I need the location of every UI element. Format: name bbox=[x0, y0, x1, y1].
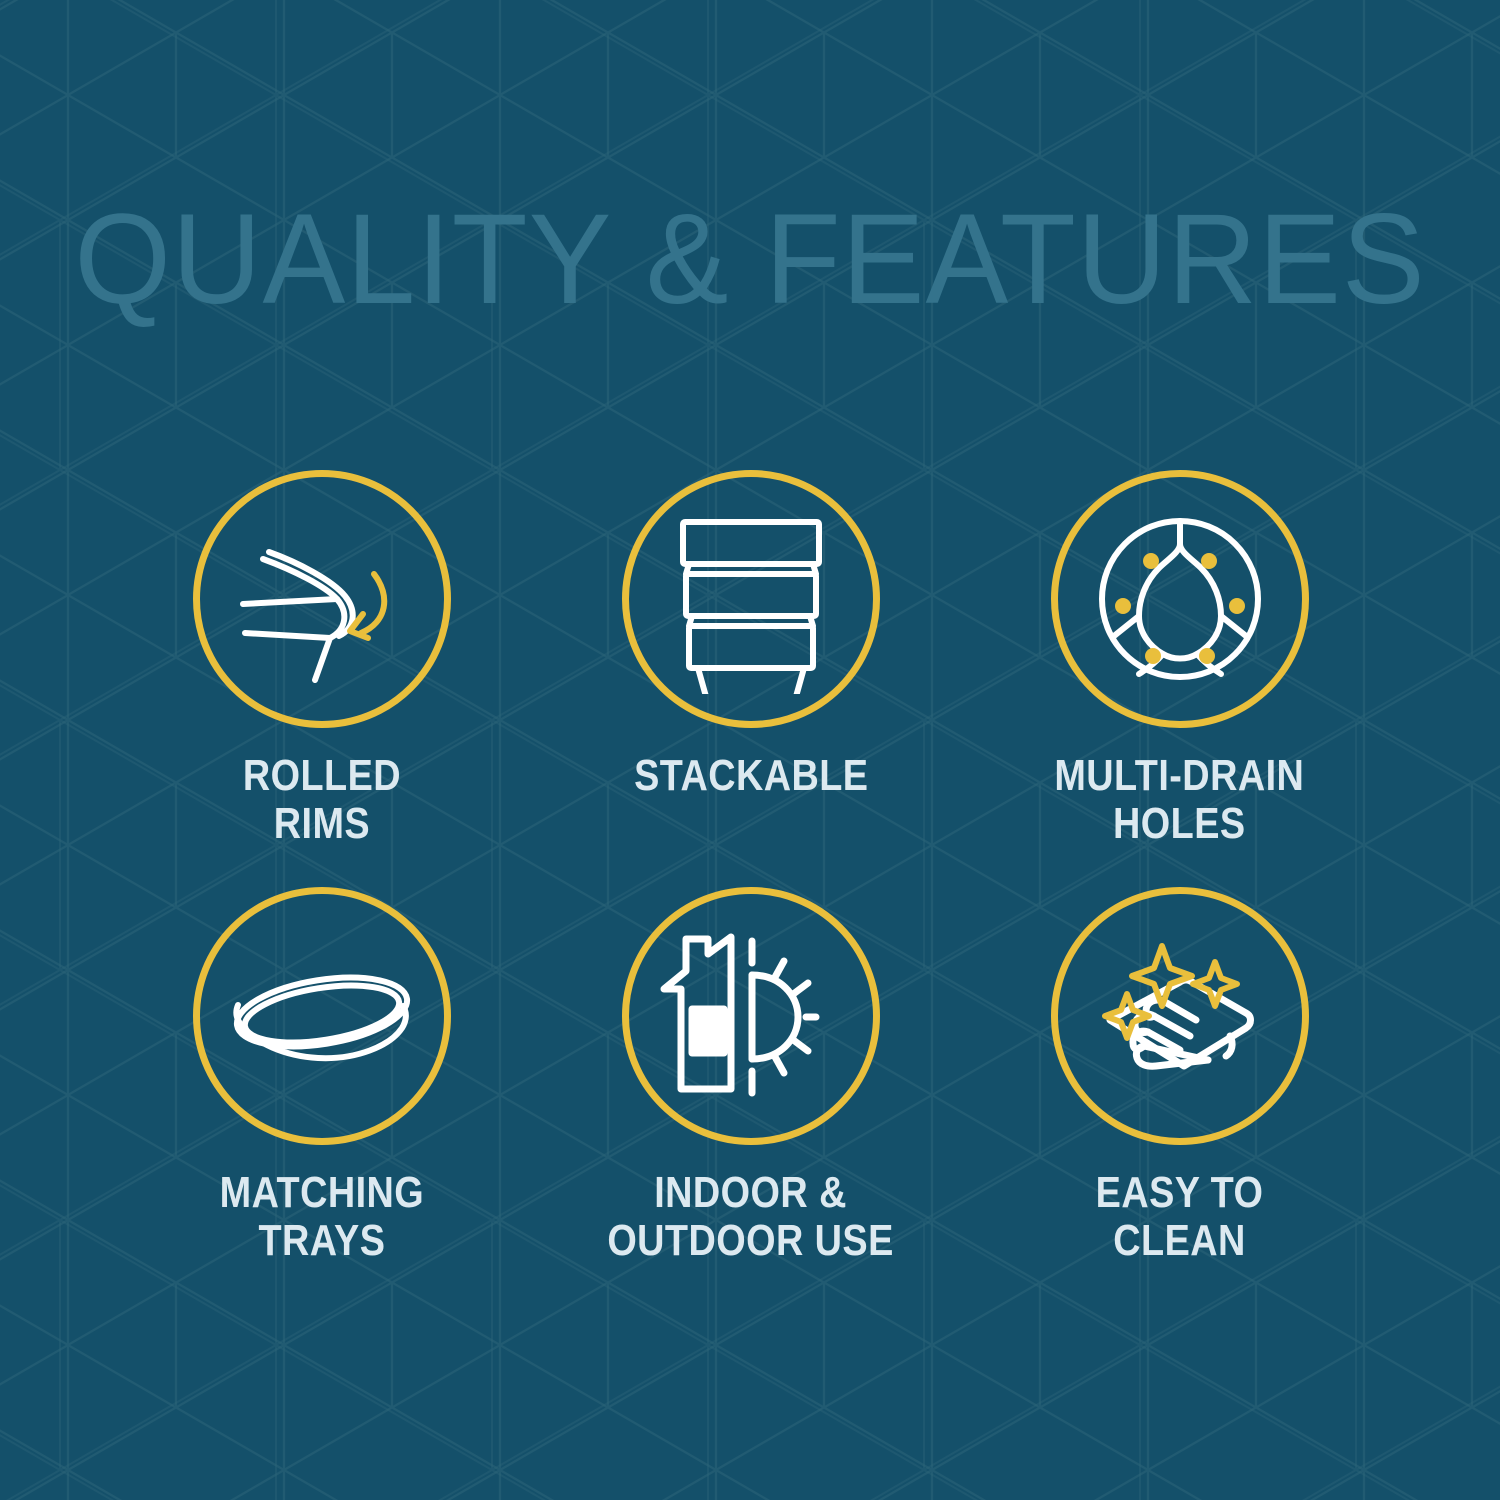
feature-label: MULTI-DRAIN HOLES bbox=[1055, 752, 1305, 847]
feature-item-rolled-rims: ROLLED RIMS bbox=[108, 470, 537, 847]
feature-item-indoor-outdoor: INDOOR & OUTDOOR USE bbox=[537, 887, 966, 1264]
hand-wipe-sparkle-icon bbox=[1080, 916, 1280, 1116]
feature-label: MATCHING TRAYS bbox=[220, 1169, 425, 1264]
icon-ring bbox=[1051, 887, 1309, 1145]
feature-item-easy-to-clean: EASY TO CLEAN bbox=[965, 887, 1394, 1264]
drain-holes-icon bbox=[1085, 504, 1275, 694]
icon-ring bbox=[622, 470, 880, 728]
feature-item-multi-drain-holes: MULTI-DRAIN HOLES bbox=[965, 470, 1394, 847]
icon-ring bbox=[193, 887, 451, 1145]
feature-label: ROLLED RIMS bbox=[243, 752, 401, 847]
rolled-rim-icon bbox=[227, 504, 417, 694]
icon-ring bbox=[1051, 470, 1309, 728]
feature-grid: ROLLED RIMS STACKABLE bbox=[108, 470, 1394, 1264]
page-title: QUALITY & FEATURES bbox=[23, 196, 1478, 324]
feature-item-stackable: STACKABLE bbox=[537, 470, 966, 847]
feature-label: INDOOR & OUTDOOR USE bbox=[608, 1169, 894, 1264]
feature-item-matching-trays: MATCHING TRAYS bbox=[108, 887, 537, 1264]
icon-ring bbox=[193, 470, 451, 728]
quality-features-panel: QUALITY & FEATURES bbox=[0, 0, 1500, 1500]
icon-ring bbox=[622, 887, 880, 1145]
stacked-pots-icon bbox=[656, 504, 846, 694]
saucer-tray-icon bbox=[222, 916, 422, 1116]
house-sun-icon bbox=[656, 921, 846, 1111]
feature-label: STACKABLE bbox=[634, 752, 868, 800]
feature-label: EASY TO CLEAN bbox=[1096, 1169, 1264, 1264]
